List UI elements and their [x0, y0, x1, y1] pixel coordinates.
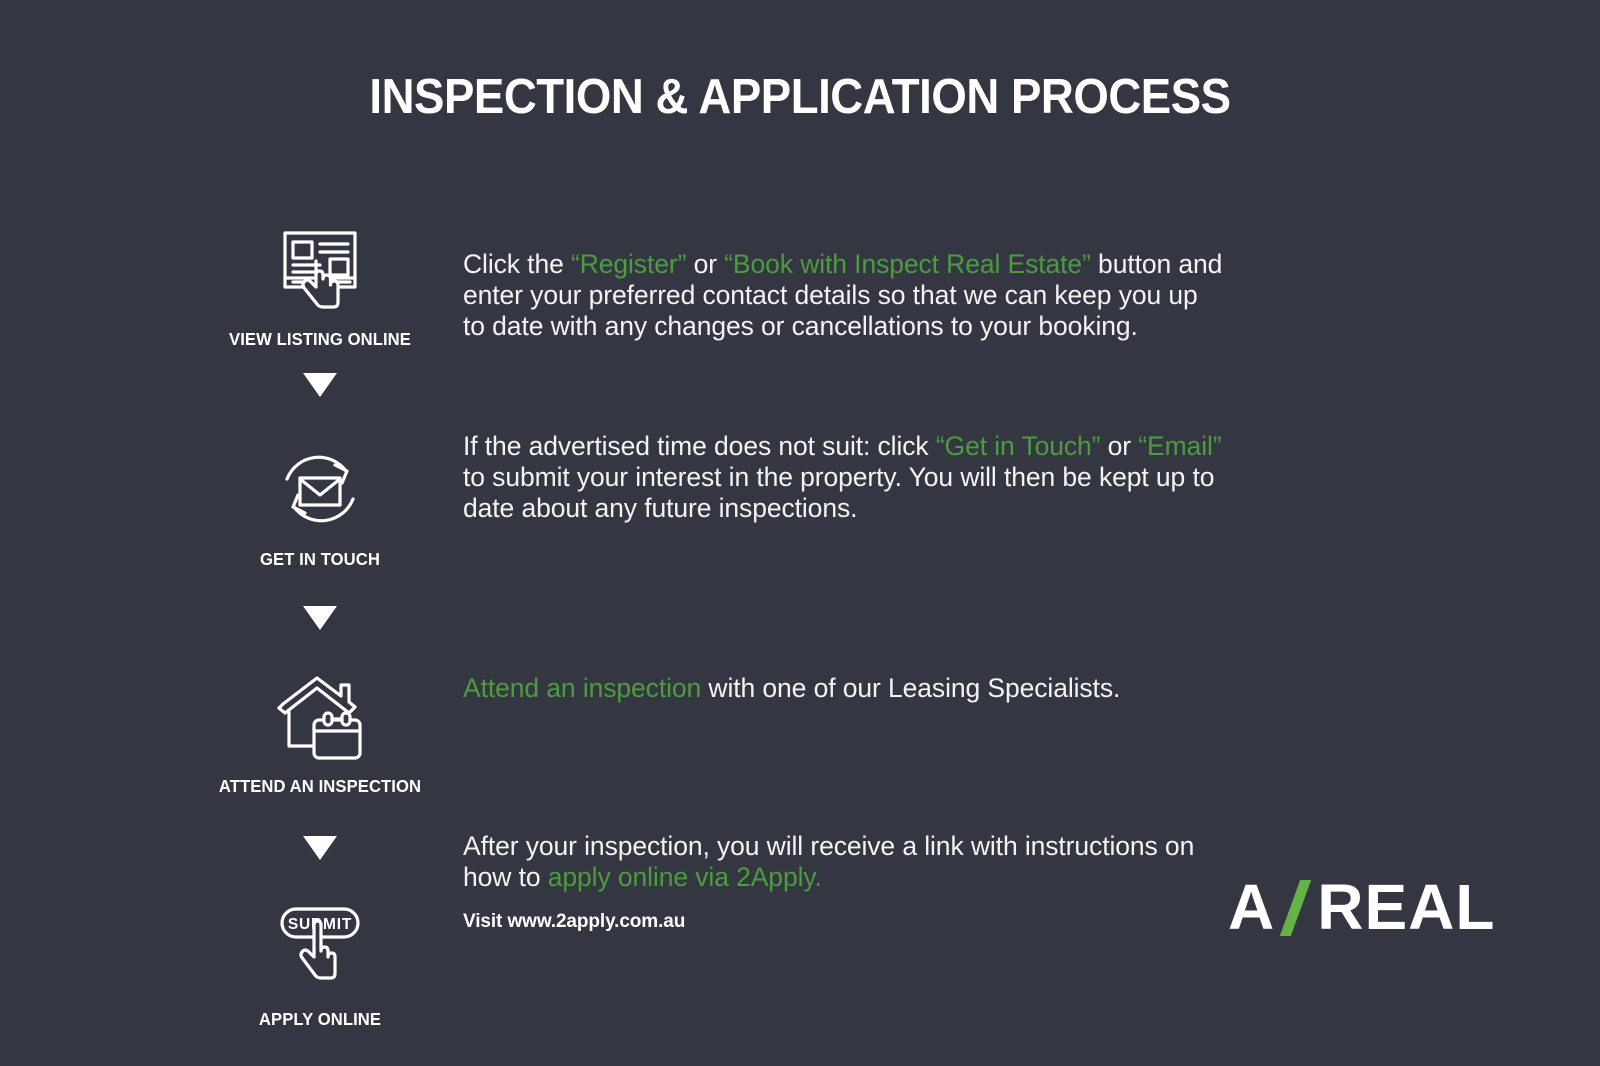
step-apply-online: SUBMIT APPLY ONLINE: [195, 895, 445, 1030]
step-arrow-2: [195, 606, 445, 630]
highlighted-phrase: Attend an inspection: [463, 673, 701, 703]
body-text: or: [1100, 431, 1138, 461]
highlighted-phrase: “Email”: [1138, 431, 1221, 461]
step-description-3: Attend an inspection with one of our Lea…: [463, 673, 1223, 704]
body-text: to submit your interest in the property.…: [463, 462, 1214, 523]
step-arrow-1: [195, 373, 445, 397]
body-text: with one of our Leasing Specialists.: [701, 673, 1120, 703]
body-text: If the advertised time does not suit: cl…: [463, 431, 936, 461]
step-get-in-touch: GET IN TOUCH: [195, 435, 445, 570]
step-description-4: After your inspection, you will receive …: [463, 831, 1223, 893]
listing-page-with-pointer-icon: [195, 215, 445, 323]
logo-letter-a: A: [1228, 875, 1275, 939]
step-attend-an-inspection: ATTEND AN INSPECTION: [195, 662, 445, 797]
step-label: GET IN TOUCH: [201, 549, 439, 570]
infographic-page: INSPECTION & APPLICATION PROCESS: [0, 0, 1600, 1066]
step-label: VIEW LISTING ONLINE: [201, 329, 439, 350]
submit-button-pointer-icon: SUBMIT: [195, 895, 445, 1003]
body-text: or: [686, 249, 724, 279]
step-label: ATTEND AN INSPECTION: [201, 776, 439, 797]
body-text: Click the: [463, 249, 571, 279]
logo-word-real: REAL: [1317, 875, 1495, 939]
step-label: APPLY ONLINE: [201, 1009, 439, 1030]
step-description-1: Click the “Register” or “Book with Inspe…: [463, 249, 1223, 342]
process-steps-column: VIEW LISTING ONLINE GET IN TOU: [195, 215, 445, 1030]
house-calendar-icon: [195, 662, 445, 770]
logo-slash-icon: [1281, 878, 1315, 936]
step-view-listing-online: VIEW LISTING ONLINE: [195, 215, 445, 350]
highlighted-phrase: “Get in Touch”: [936, 431, 1101, 461]
visit-url-text: Visit www.2apply.com.au: [463, 911, 685, 933]
brand-logo: A REAL: [1228, 876, 1495, 938]
highlighted-phrase: “Register”: [571, 249, 686, 279]
page-title: INSPECTION & APPLICATION PROCESS: [56, 72, 1544, 123]
envelope-refresh-icon: [195, 435, 445, 543]
highlighted-phrase: “Book with Inspect Real Estate”: [724, 249, 1091, 279]
step-arrow-3: [195, 836, 445, 860]
highlighted-phrase: apply online via 2Apply.: [548, 862, 822, 892]
step-description-2: If the advertised time does not suit: cl…: [463, 431, 1223, 524]
